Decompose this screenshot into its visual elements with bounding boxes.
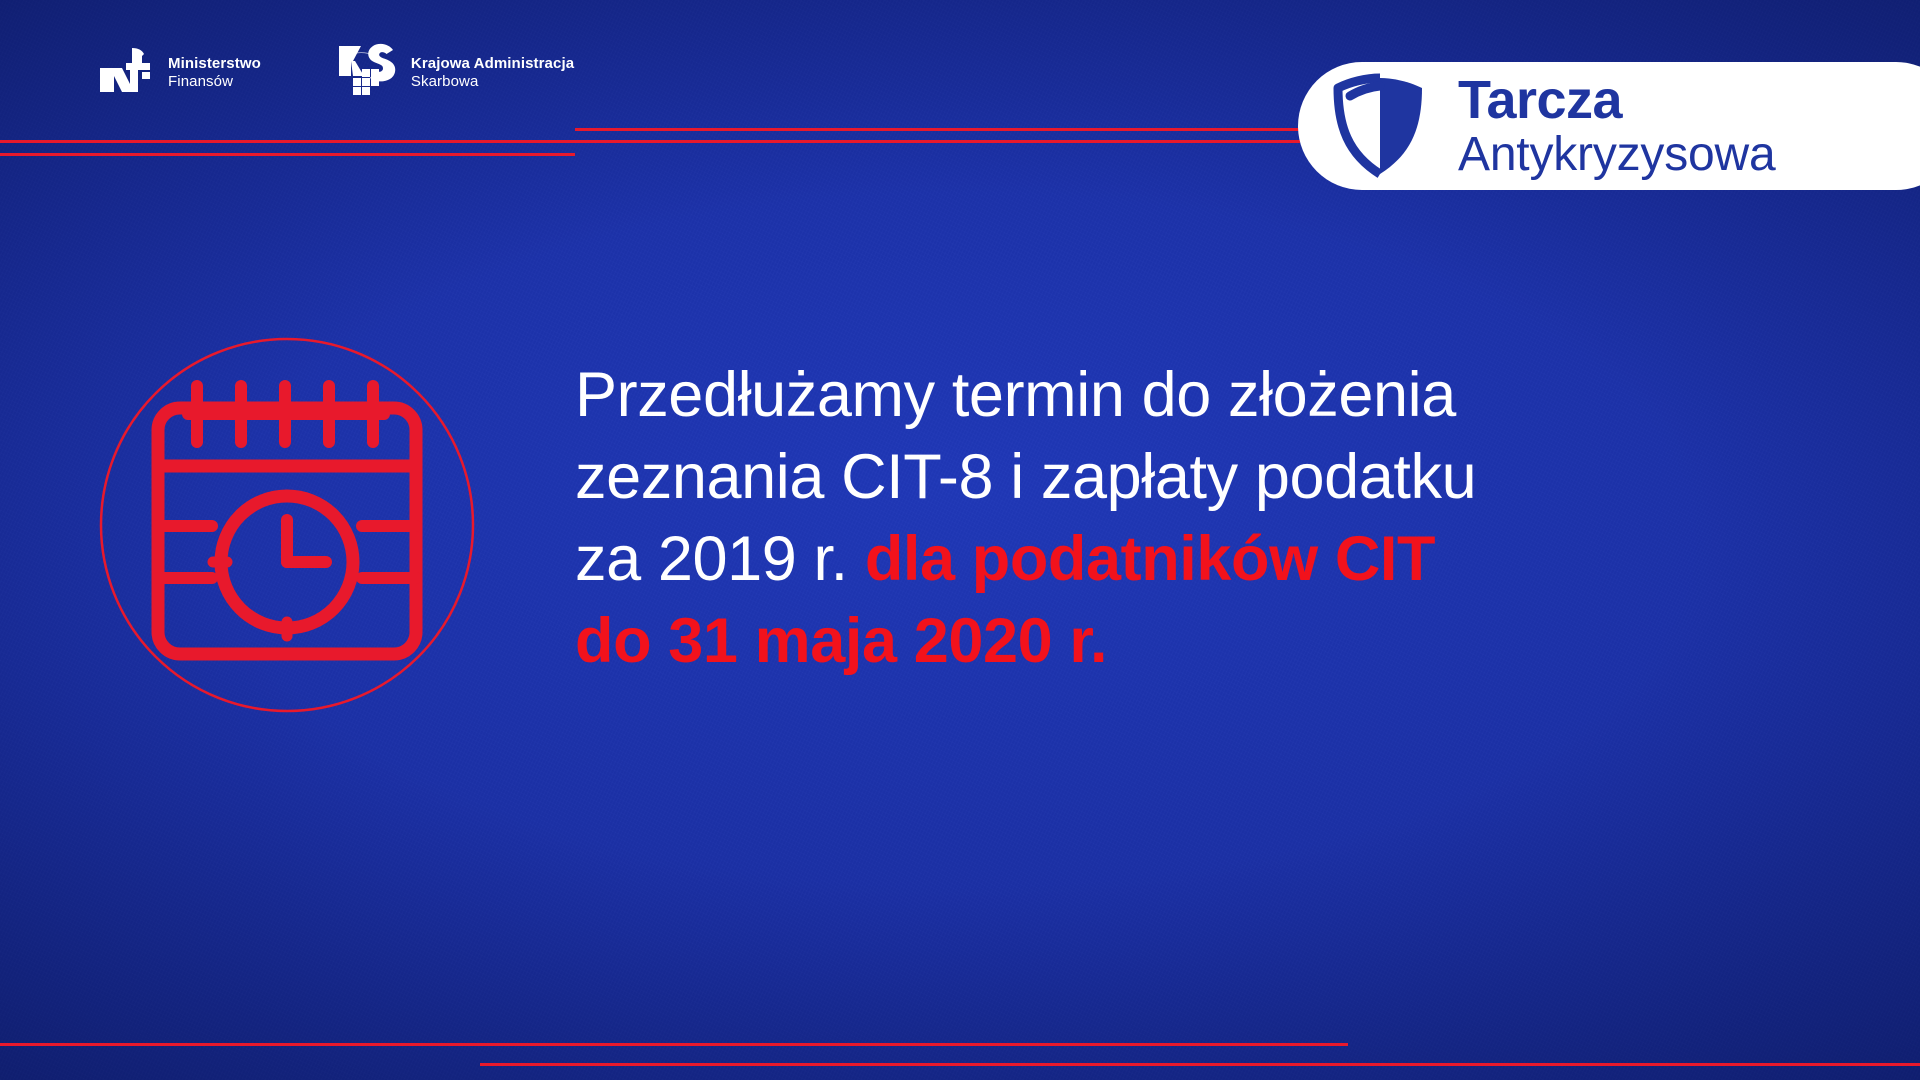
- logo-ministerstwo-finansow: Ministerstwo Finansów: [98, 46, 261, 99]
- headline-line-3: za 2019 r. dla podatników CIT: [575, 519, 1735, 601]
- headline-line-3-plain: za 2019 r.: [575, 524, 865, 594]
- logo-mf-line2: Finansów: [168, 73, 261, 90]
- red-rule-bottom-lower: [480, 1063, 1920, 1066]
- logo-mf-line1: Ministerstwo: [168, 55, 261, 72]
- badge-title-bottom: Antykryzysowa: [1458, 131, 1776, 178]
- headline-block: Przedłużamy termin do złożenia zeznania …: [575, 355, 1735, 683]
- krajowa-administracja-skarbowa-kas-monogram-icon: [337, 42, 399, 103]
- red-rule-top-lower: [0, 153, 575, 156]
- logo-kas-line1: Krajowa Administracja: [411, 55, 574, 72]
- tarcza-antykryzysowa-badge: Tarcza Antykryzysowa: [1298, 62, 1920, 190]
- calendar-left-rows: [158, 526, 212, 578]
- logo-krajowa-administracja-skarbowa: Krajowa Administracja Skarbowa: [337, 42, 574, 103]
- clock-hands: [287, 520, 326, 562]
- calendar-right-rows: [362, 526, 416, 578]
- red-rule-top-upper: [575, 128, 1300, 131]
- logo-kas-text: Krajowa Administracja Skarbowa: [411, 55, 574, 89]
- tarcza-badge-wordmark: Tarcza Antykryzysowa: [1458, 74, 1776, 178]
- headline-line-1: Przedłużamy termin do złożenia: [575, 355, 1735, 437]
- calendar-clock-illustration: [92, 330, 482, 720]
- headline-line-4-accent: do 31 maja 2020 r.: [575, 601, 1735, 683]
- shield-icon: [1328, 66, 1432, 187]
- ministerstwo-finansow-mf-monogram-icon: [98, 46, 156, 99]
- badge-title-top: Tarcza: [1458, 74, 1776, 127]
- logo-kas-line2: Skarbowa: [411, 73, 574, 90]
- headline-line-3-accent: dla podatników CIT: [865, 524, 1435, 594]
- headline-line-2: zeznania CIT-8 i zapłaty podatku: [575, 437, 1735, 519]
- red-rule-top-middle: [0, 140, 1300, 143]
- slide-canvas: Ministerstwo Finansów: [0, 0, 1920, 1080]
- logo-ministerstwo-finansow-text: Ministerstwo Finansów: [168, 55, 261, 89]
- institution-logo-bar: Ministerstwo Finansów: [98, 42, 574, 103]
- red-rule-bottom-upper: [0, 1043, 1348, 1046]
